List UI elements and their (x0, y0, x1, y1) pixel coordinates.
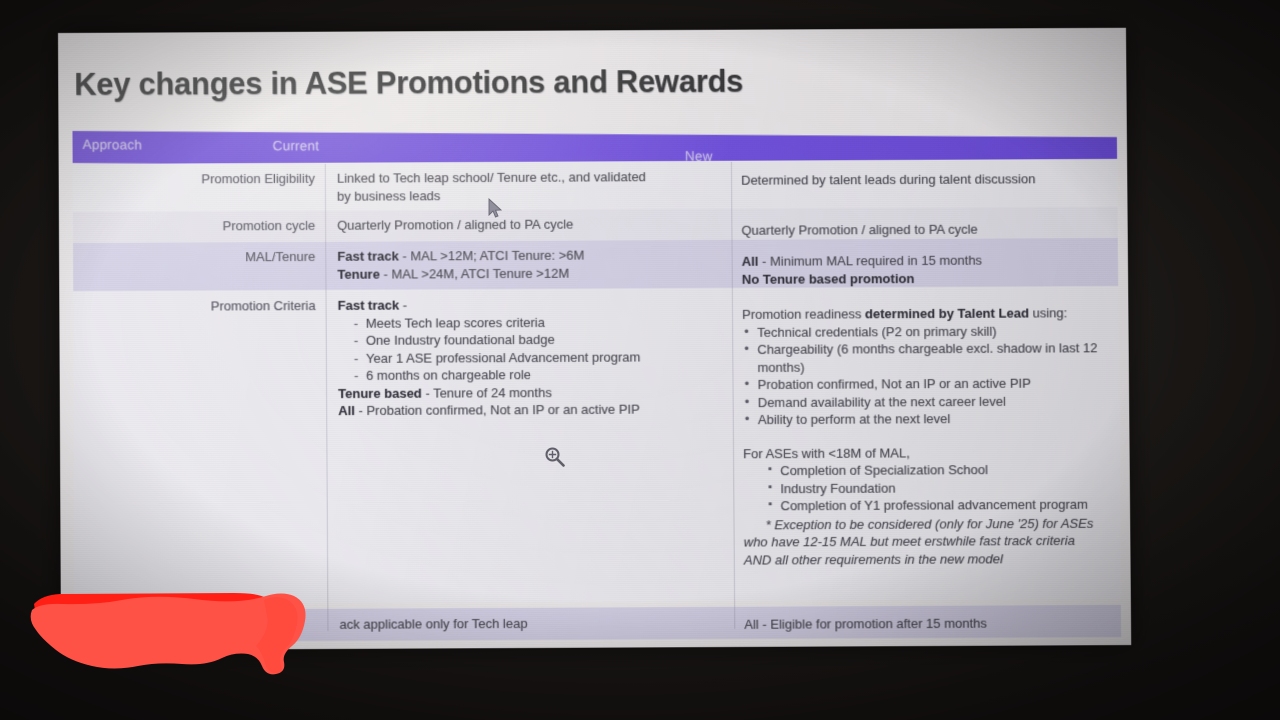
emphasis-tenure: Tenure (337, 266, 380, 281)
cell-current-promotion-cycle: Quarterly Promotion / aligned to PA cycl… (337, 215, 717, 234)
new-criteria-list: Technical credentials (P2 on primary ski… (742, 322, 1129, 429)
row-label-mal-tenure: MAL/Tenure (73, 248, 315, 267)
cell-line: by business leads (337, 185, 717, 204)
row-label-promotion-criteria: Promotion Criteria (73, 297, 315, 316)
cell-line: Promotion readiness determined by Talent… (742, 304, 1128, 323)
cell-line: Tenure - MAL >24M, ATCI Tenure >12M (337, 263, 727, 282)
list-item: Chargeability (6 months chargeable excl.… (742, 339, 1129, 376)
cell-text: - MAL >24M, ATCI Tenure >12M (380, 265, 569, 281)
list-item: Ability to perform at the next level (743, 409, 1130, 428)
list-item: Technical credentials (P2 on primary ski… (742, 322, 1129, 341)
cell-line: Tenure based - Tenure of 24 months (338, 383, 729, 402)
comparison-table: Approach Current New Promotion Eligibili… (72, 126, 1121, 632)
footnote-line: AND all other requirements in the new mo… (744, 549, 1131, 568)
emphasis-all: All (742, 254, 759, 269)
list-item: One Industry foundational badge (352, 330, 728, 349)
list-item: Probation confirmed, Not an IP or an act… (742, 374, 1129, 393)
emphasis-no-tenure: No Tenure based promotion (742, 271, 915, 287)
zoom-magnifier-cursor-icon (544, 446, 566, 473)
cell-text: Promotion readiness (742, 306, 865, 322)
mouse-pointer-icon (488, 198, 504, 225)
cell-text: - (399, 298, 407, 313)
emphasis-talent-lead: determined by Talent Lead (865, 306, 1029, 322)
cell-text: using: (1029, 305, 1067, 320)
cell-text: - Probation confirmed, Not an IP or an a… (355, 402, 640, 418)
cell-line: No Tenure based promotion (742, 269, 1118, 288)
list-item: Completion of Y1 professional advancemen… (765, 495, 1130, 514)
list-item: Meets Tech leap scores criteria (352, 312, 728, 331)
cell-text: - MAL >12M; ATCI Tenure: >6M (399, 248, 585, 264)
emphasis-tenure-based: Tenure based (338, 385, 422, 400)
list-item: Completion of Specialization School (765, 460, 1130, 479)
emphasis-fast-track: Fast track (338, 298, 400, 313)
list-item: 6 months on chargeable role (352, 365, 729, 384)
cell-line: Fast track - (338, 295, 728, 314)
cell-line: Quarterly Promotion / aligned to PA cycl… (741, 220, 1117, 239)
cell-new-mal-tenure: All - Minimum MAL required in 15 months … (742, 251, 1119, 288)
emphasis-all: All (338, 403, 355, 418)
cell-line: Determined by talent leads during talent… (741, 170, 1117, 189)
presentation-slide: Key changes in ASE Promotions and Reward… (58, 28, 1131, 650)
new-criteria-subheading: For ASEs with <18M of MAL, (743, 443, 1130, 462)
cell-current-mal-tenure: Fast track - MAL >12M; ATCI Tenure: >6M … (337, 246, 728, 283)
column-header-approach: Approach (83, 137, 142, 152)
cell-current-footnote: ack applicable only for Tech leap (339, 614, 730, 633)
cell-new-footnote: All - Eligible for promotion after 15 mo… (744, 614, 1121, 633)
column-header-current: Current (273, 138, 320, 153)
new-criteria-sublist: Completion of Specialization School Indu… (765, 460, 1130, 514)
cell-text: - Tenure of 24 months (422, 385, 552, 401)
cell-line: All - Probation confirmed, Not an IP or … (338, 400, 729, 419)
spacer (743, 427, 1130, 445)
cell-line: All - Minimum MAL required in 15 months (742, 251, 1118, 270)
footnote-line: who have 12-15 MAL but meet erstwhile fa… (744, 532, 1131, 551)
cell-text: - Minimum MAL required in 15 months (758, 253, 982, 269)
footnote-line: * Exception to be considered (only for J… (766, 514, 1131, 533)
cell-line: Fast track - MAL >12M; ATCI Tenure: >6M (337, 246, 727, 265)
cell-new-promotion-cycle: Quarterly Promotion / aligned to PA cycl… (741, 220, 1117, 239)
list-item: Industry Foundation (765, 478, 1130, 497)
cell-new-promotion-eligibility: Determined by talent leads during talent… (741, 170, 1117, 189)
new-criteria-footnote: * Exception to be considered (only for J… (743, 514, 1130, 569)
cell-new-promotion-criteria: Promotion readiness determined by Talent… (742, 304, 1131, 569)
row-label-promotion-eligibility: Promotion Eligibility (73, 170, 315, 189)
cell-current-promotion-criteria: Fast track - Meets Tech leap scores crit… (338, 295, 729, 420)
cell-current-promotion-eligibility: Linked to Tech leap school/ Tenure etc.,… (337, 168, 717, 205)
cell-line: Quarterly Promotion / aligned to PA cycl… (337, 215, 717, 234)
emphasis-fast-track: Fast track (337, 248, 399, 263)
row-label-promotion-cycle: Promotion cycle (73, 217, 315, 236)
cell-line: Linked to Tech leap school/ Tenure etc.,… (337, 168, 717, 187)
list-item: Year 1 ASE professional Advancement prog… (352, 348, 729, 367)
current-criteria-list: Meets Tech leap scores criteria One Indu… (352, 312, 729, 384)
page-title: Key changes in ASE Promotions and Reward… (74, 64, 743, 103)
list-item: Demand availability at the next career l… (743, 392, 1130, 411)
